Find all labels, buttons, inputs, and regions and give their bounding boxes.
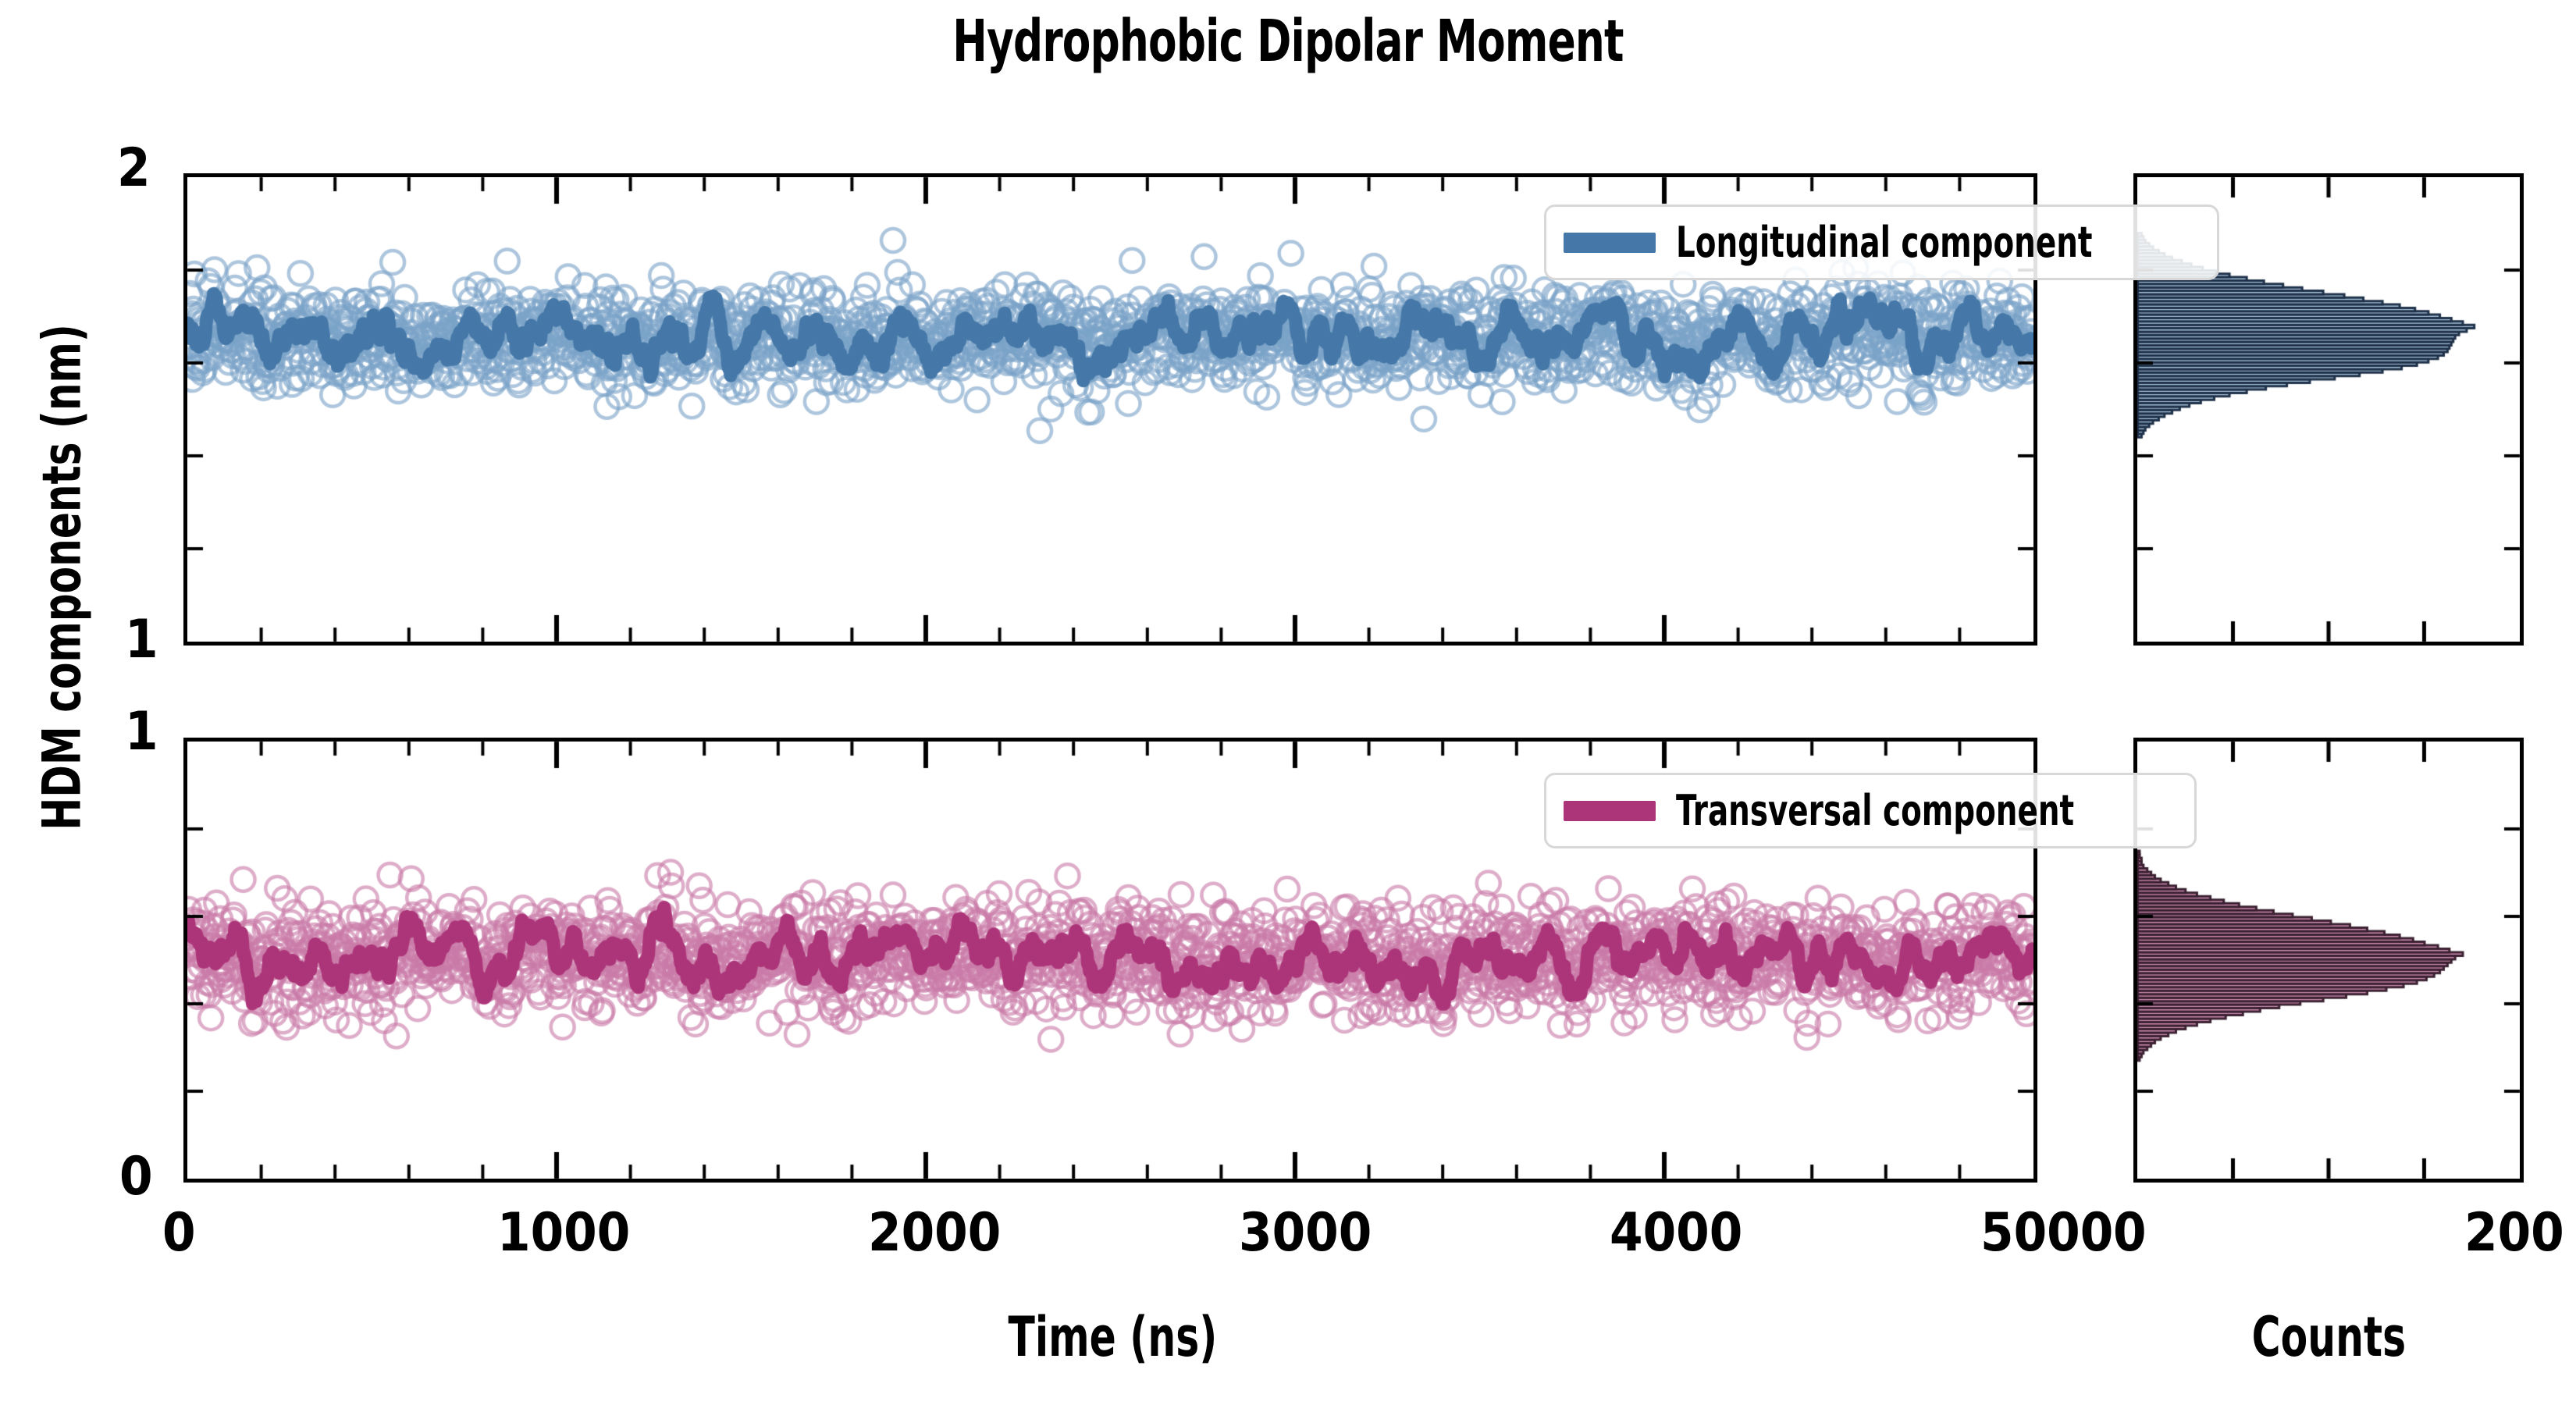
hist-xtick-200: 200 bbox=[2464, 1202, 2564, 1264]
legend-longitudinal: Longitudinal component bbox=[1544, 205, 2219, 280]
ytick-top-2: 2 bbox=[117, 137, 151, 199]
figure-title: Hydrophobic Dipolar Moment bbox=[258, 8, 2318, 75]
ytick-top-1: 1 bbox=[125, 609, 158, 670]
hist-x-axis-label: Counts bbox=[2133, 1305, 2524, 1369]
legend-swatch-transversal bbox=[1564, 801, 1656, 821]
xtick-5000: 5000 bbox=[1980, 1202, 2113, 1264]
legend-label-transversal-text: Transversal component bbox=[1676, 786, 2074, 835]
x-axis-label: Time (ns) bbox=[183, 1305, 2041, 1369]
legend-transversal: Transversal component bbox=[1544, 773, 2197, 848]
ytick-bot-1: 1 bbox=[125, 701, 158, 763]
xtick-1000: 1000 bbox=[497, 1202, 630, 1264]
y-axis-label: HDM components (nm) bbox=[32, 258, 94, 898]
hist-xtick-0: 0 bbox=[2113, 1202, 2147, 1264]
x-axis-label-text: Time (ns) bbox=[1008, 1305, 1217, 1369]
legend-label-longitudinal-text: Longitudinal component bbox=[1676, 218, 2092, 267]
xtick-2000: 2000 bbox=[868, 1202, 1001, 1264]
figure-root: Hydrophobic Dipolar Moment HDM component… bbox=[0, 0, 2576, 1405]
legend-label-transversal: Transversal component bbox=[1676, 786, 2174, 835]
xtick-0: 0 bbox=[162, 1202, 196, 1264]
legend-label-longitudinal: Longitudinal component bbox=[1676, 218, 2197, 267]
legend-swatch-longitudinal bbox=[1564, 233, 1656, 253]
xtick-4000: 4000 bbox=[1610, 1202, 1742, 1264]
ytick-bot-0: 0 bbox=[119, 1146, 153, 1208]
xtick-3000: 3000 bbox=[1239, 1202, 1372, 1264]
hist-x-axis-label-text: Counts bbox=[2251, 1305, 2405, 1369]
